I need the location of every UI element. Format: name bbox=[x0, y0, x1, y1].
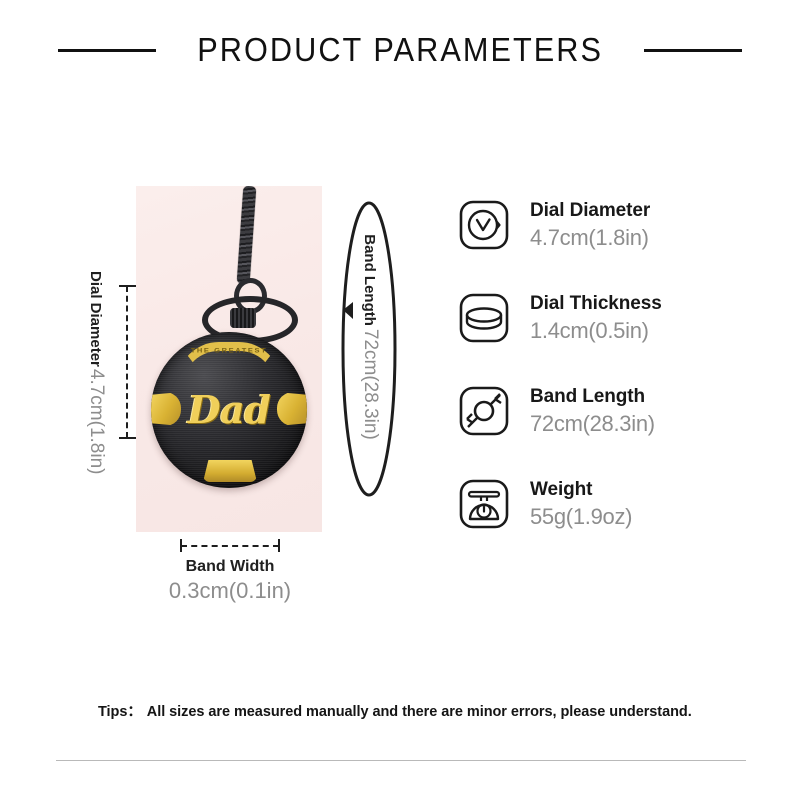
dimension-line bbox=[126, 286, 128, 438]
spec-value: 1.4cm(0.5in) bbox=[530, 317, 662, 346]
spec-label: Dial Diameter bbox=[530, 199, 650, 223]
spec-label: Dial Thickness bbox=[530, 292, 662, 316]
spec-row-band-length: Band Length 72cm(28.3in) bbox=[458, 384, 758, 477]
dial-diameter-annotation-label: Dial Diameter bbox=[88, 271, 105, 367]
spec-text-weight: Weight 55g(1.9oz) bbox=[530, 477, 632, 531]
title-rule-left bbox=[58, 49, 156, 52]
band-width-annotation-value: 0.3cm(0.1in) bbox=[120, 578, 340, 604]
product-photo: THE GREATEST Dad bbox=[136, 186, 322, 532]
band-width-annotation: Band Width 0.3cm(0.1in) bbox=[120, 558, 340, 604]
spec-label: Band Length bbox=[530, 385, 655, 409]
band-length-annotation-value: 72cm(28.3in) bbox=[359, 329, 381, 440]
arc-banner-text: THE GREATEST bbox=[181, 347, 277, 355]
gold-panel-bottom bbox=[203, 460, 257, 482]
dial-diameter-dimension: Dial Diameter 4.7cm(1.8in) bbox=[62, 282, 132, 442]
band-width-annotation-label: Band Width bbox=[120, 558, 340, 576]
spec-row-dial-thickness: Dial Thickness 1.4cm(0.5in) bbox=[458, 291, 758, 384]
dimension-cap-right bbox=[278, 539, 280, 552]
spec-list: Dial Diameter 4.7cm(1.8in) Dial Thicknes… bbox=[458, 198, 758, 570]
band-length-dimension: Band Length 72cm(28.3in) bbox=[336, 198, 402, 500]
watch-chain bbox=[237, 186, 257, 284]
spec-label: Weight bbox=[530, 478, 632, 502]
watch-band-icon bbox=[458, 385, 510, 437]
dial-diameter-annotation-value: 4.7cm(1.8in) bbox=[85, 369, 107, 475]
dimension-cap-bottom bbox=[119, 437, 136, 439]
band-length-annotation-label: Band Length bbox=[362, 234, 379, 326]
band-length-annotation: Band Length 72cm(28.3in) bbox=[359, 237, 381, 437]
tips-text: All sizes are measured manually and ther… bbox=[147, 704, 692, 720]
tips-prefix: Tips： bbox=[98, 704, 142, 720]
title-rule-right bbox=[644, 49, 742, 52]
watch-dial-icon bbox=[458, 199, 510, 251]
spec-row-dial-diameter: Dial Diameter 4.7cm(1.8in) bbox=[458, 198, 758, 291]
spec-text-dial-diameter: Dial Diameter 4.7cm(1.8in) bbox=[530, 198, 650, 252]
tips-note: Tips：All sizes are measured manually and… bbox=[98, 700, 692, 721]
spec-row-weight: Weight 55g(1.9oz) bbox=[458, 477, 758, 570]
watch-crown bbox=[230, 308, 256, 328]
spec-value: 4.7cm(1.8in) bbox=[530, 224, 650, 253]
spec-value: 72cm(28.3in) bbox=[530, 410, 655, 439]
dad-engraving-text: Dad bbox=[151, 387, 307, 432]
kitchen-scale-icon bbox=[458, 478, 510, 530]
spec-text-band-length: Band Length 72cm(28.3in) bbox=[530, 384, 655, 438]
footer-divider bbox=[56, 760, 746, 761]
dimension-line bbox=[181, 545, 279, 547]
band-width-dimension bbox=[178, 538, 282, 554]
pocket-watch-case: THE GREATEST Dad bbox=[151, 332, 307, 488]
page-header: PRODUCT PARAMETERS bbox=[0, 26, 800, 74]
cylinder-thickness-icon bbox=[458, 292, 510, 344]
spec-value: 55g(1.9oz) bbox=[530, 503, 632, 532]
dial-diameter-annotation: Dial Diameter 4.7cm(1.8in) bbox=[85, 271, 107, 431]
page-title: PRODUCT PARAMETERS bbox=[197, 31, 603, 69]
spec-text-dial-thickness: Dial Thickness 1.4cm(0.5in) bbox=[530, 291, 662, 345]
